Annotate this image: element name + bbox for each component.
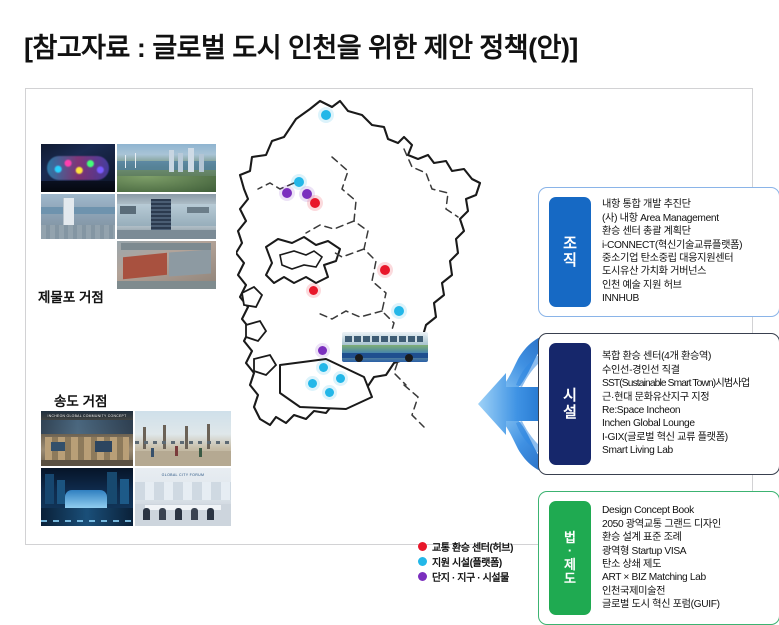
songdo-photo-collage: INCHEON GLOBAL COMMUNITY CONCEPT	[41, 411, 231, 526]
legend-dot-support-facility	[418, 557, 427, 566]
panel-tab-facility: 시 설	[549, 343, 591, 465]
map-marker-support-facility[interactable]	[336, 374, 345, 383]
panel-tab-char: 도	[564, 572, 576, 586]
panel-tab-char: ·	[568, 544, 572, 558]
list-item: SST(Sustainable Smart Town)시범사업	[602, 377, 773, 390]
list-item: Inchen Global Lounge	[602, 417, 773, 430]
list-item: 인천 예술 지원 허브	[602, 279, 773, 292]
panel-tab-char: 설	[563, 404, 577, 421]
map-marker-transit-hub[interactable]	[380, 265, 390, 275]
map-marker-support-facility[interactable]	[394, 306, 404, 316]
list-item: 근·현대 문화유산지구 지정	[602, 391, 773, 404]
panel-facility-list: 복합 환승 센터(4개 환승역) 수인선-경인선 직결 SST(Sustaina…	[591, 334, 779, 474]
list-item: Re:Space Incheon	[602, 404, 773, 417]
map-marker-support-facility[interactable]	[308, 379, 317, 388]
panel-tab-char: 법	[564, 531, 576, 545]
list-item: 2050 광역교통 그랜드 디자인	[602, 518, 773, 531]
panel-tab-char: 직	[563, 252, 577, 269]
list-item: ART × BIZ Matching Lab	[602, 571, 773, 584]
list-item: 환승 설계 표준 조례	[602, 531, 773, 544]
photo-songdo-3	[41, 468, 133, 526]
legend-label: 지원 시설(플랫폼)	[432, 554, 502, 569]
legend-item: 교통 환승 센터(허브)	[418, 539, 513, 554]
list-item: 인천국제미술전	[602, 585, 773, 598]
map-marker-support-facility[interactable]	[321, 110, 331, 120]
photo-songdo-1: INCHEON GLOBAL COMMUNITY CONCEPT	[41, 411, 133, 466]
map-marker-transit-hub[interactable]	[310, 198, 320, 208]
panel-organization[interactable]: 조 직 내항 통합 개발 추진단 (사) 내항 Area Management …	[538, 187, 779, 317]
list-item: Smart Living Lab	[602, 444, 773, 457]
panel-law-system-list: Design Concept Book 2050 광역교통 그랜드 디자인 환승…	[591, 492, 779, 624]
region-label-jemulpo: 제물포 거점	[38, 285, 107, 307]
panel-facility[interactable]: 시 설 복합 환승 센터(4개 환승역) 수인선-경인선 직결 SST(Sust…	[538, 333, 779, 475]
photo-jemulpo-5	[117, 241, 216, 289]
panel-tab-law-system: 법 · 제 도	[549, 501, 591, 615]
map-marker-complex-zone[interactable]	[282, 188, 292, 198]
map-marker-transit-hub[interactable]	[309, 286, 318, 295]
map-marker-support-facility[interactable]	[319, 363, 328, 372]
map-outline-svg	[236, 97, 486, 527]
legend-dot-transit-hub	[418, 542, 427, 551]
list-item: 환승 센터 총괄 계획단	[602, 225, 773, 238]
legend-dot-complex-zone	[418, 572, 427, 581]
map-marker-support-facility[interactable]	[325, 388, 334, 397]
list-item: INNHUB	[602, 292, 773, 305]
photo-songdo-4: GLOBAL CITY FORUM	[135, 468, 231, 526]
map-marker-support-facility[interactable]	[294, 177, 304, 187]
panel-organization-list: 내항 통합 개발 추진단 (사) 내항 Area Management 환승 센…	[591, 188, 779, 316]
list-item: (사) 내항 Area Management	[602, 212, 773, 225]
list-item: 글로벌 도시 혁신 포럼(GUIF)	[602, 598, 773, 611]
map-legend: 교통 환승 센터(허브) 지원 시설(플랫폼) 단지 · 지구 · 시설물	[418, 539, 513, 584]
list-item: i-CONNECT(혁신기술교류플랫폼)	[602, 239, 773, 252]
panel-law-system[interactable]: 법 · 제 도 Design Concept Book 2050 광역교통 그랜…	[538, 491, 779, 625]
panel-tab-char: 제	[564, 558, 576, 572]
panel-tab-char: 시	[563, 387, 577, 404]
legend-item: 지원 시설(플랫폼)	[418, 554, 513, 569]
map-inner-harbor	[280, 251, 322, 269]
panel-tab-organization: 조 직	[549, 197, 591, 307]
region-label-songdo: 송도 거점	[54, 389, 110, 411]
list-item: 도시유산 가치화 거버넌스	[602, 265, 773, 278]
incheon-map	[236, 97, 486, 527]
list-item: 복합 환승 센터(4개 환승역)	[602, 350, 773, 363]
photo-caption: GLOBAL CITY FORUM	[135, 473, 231, 477]
list-item: 수인선-경인선 직결	[602, 364, 773, 377]
photo-jemulpo-2	[117, 144, 216, 192]
photo-songdo-2	[135, 411, 231, 466]
legend-label: 단지 · 지구 · 시설물	[432, 569, 509, 584]
slide-content-frame: 제물포 거점 INCHEON GLOBAL COMMUNITY CONCEPT	[25, 88, 753, 545]
map-marker-complex-zone[interactable]	[302, 189, 312, 199]
legend-item: 단지 · 지구 · 시설물	[418, 569, 513, 584]
photo-jemulpo-1	[41, 144, 115, 192]
map-marker-complex-zone[interactable]	[318, 346, 327, 355]
photo-caption: INCHEON GLOBAL COMMUNITY CONCEPT	[41, 414, 133, 418]
list-item: 중소기업 탄소중립 대응지원센터	[602, 252, 773, 265]
legend-label: 교통 환승 센터(허브)	[432, 539, 513, 554]
jemulpo-photo-collage	[41, 144, 216, 274]
list-item: 탄소 상쇄 제도	[602, 558, 773, 571]
page-title: [참고자료 : 글로벌 도시 인천을 위한 제안 정책(안)]	[24, 26, 578, 65]
bus-photo	[342, 332, 428, 362]
list-item: 광역형 Startup VISA	[602, 545, 773, 558]
list-item: I-GIX(글로벌 혁신 교류 플랫폼)	[602, 431, 773, 444]
photo-jemulpo-3	[41, 194, 115, 239]
photo-jemulpo-4	[117, 194, 216, 239]
list-item: 내항 통합 개발 추진단	[602, 198, 773, 211]
panel-tab-char: 조	[563, 235, 577, 252]
list-item: Design Concept Book	[602, 504, 773, 517]
